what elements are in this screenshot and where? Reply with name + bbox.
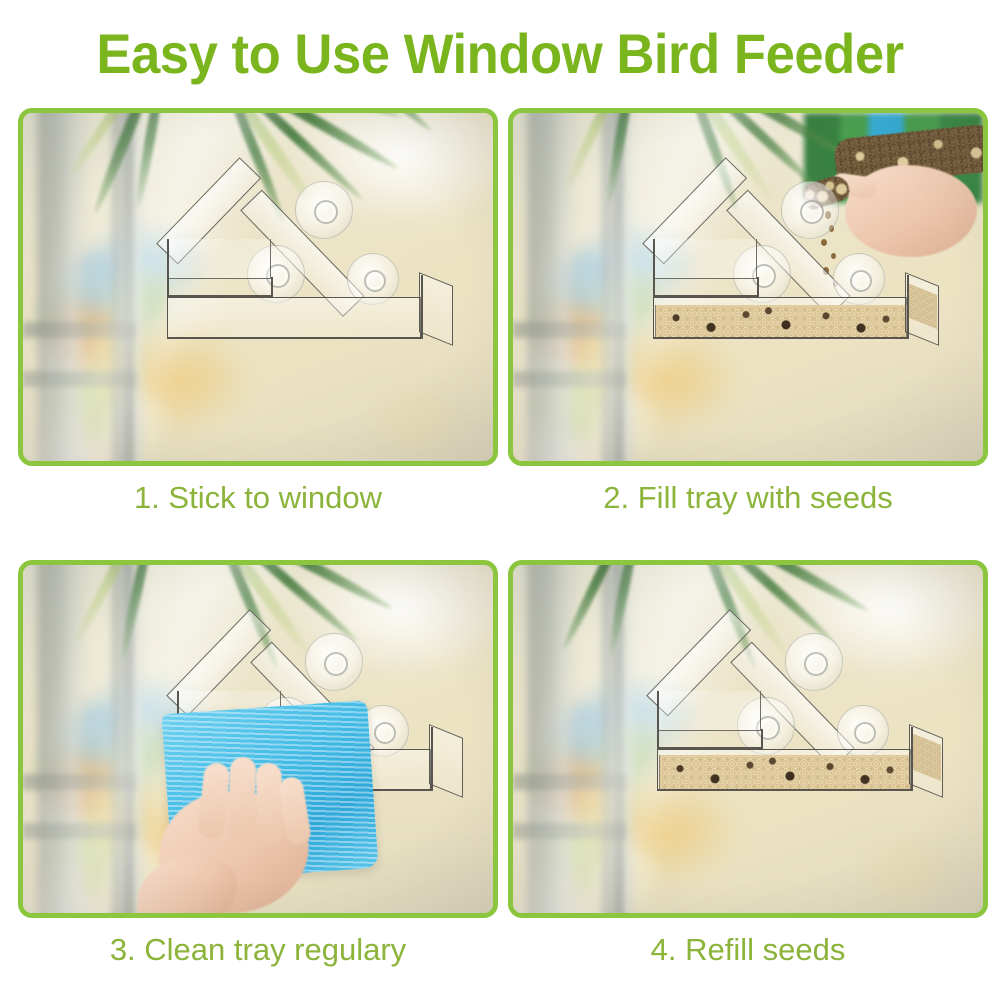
feeder-edge: [653, 239, 655, 297]
feeder-edge: [431, 727, 433, 791]
step-card-3[interactable]: 3. Clean tray regulary: [18, 560, 498, 970]
page-title: Easy to Use Window Bird Feeder: [30, 24, 970, 84]
step-caption-4: 4. Refill seeds: [508, 930, 988, 970]
feeder-tray-front: [167, 297, 421, 339]
suction-cup: [295, 181, 353, 239]
feeder-back-panel: [653, 239, 757, 279]
feeder-edge: [907, 275, 909, 339]
step-caption-3: 3. Clean tray regulary: [18, 930, 498, 970]
bird-feeder-2: [649, 171, 949, 411]
step-image-2: [508, 108, 988, 466]
feeder-back-panel: [167, 239, 271, 279]
feeder-back-panel: [657, 691, 761, 731]
step-card-2[interactable]: 2. Fill tray with seeds: [508, 108, 988, 518]
feeder-tray-side: [429, 724, 463, 798]
feeder-edge: [657, 691, 659, 749]
bird-feeder-1: [163, 171, 463, 411]
birdseed-fill: [659, 755, 911, 789]
window-scene-2: [513, 113, 983, 461]
step-card-4[interactable]: 4. Refill seeds: [508, 560, 988, 970]
step-image-1: [18, 108, 498, 466]
feeder-edge: [653, 337, 909, 339]
feeder-edge: [167, 337, 423, 339]
step-image-3: [18, 560, 498, 918]
suction-cup: [305, 633, 363, 691]
steps-grid: 1. Stick to window: [0, 108, 1000, 988]
step-image-4: [508, 560, 988, 918]
infographic-page: Easy to Use Window Bird Feeder: [0, 0, 1000, 1000]
feeder-edge: [757, 277, 759, 297]
window-scene-1: [23, 113, 493, 461]
finger: [255, 762, 285, 843]
window-scene-4: [513, 565, 983, 913]
birdseed-fill: [655, 305, 907, 337]
feeder-edge: [657, 789, 913, 791]
feeder-edge: [421, 275, 423, 339]
feeder-edge: [167, 239, 169, 297]
window-scene-3: [23, 565, 493, 913]
suction-cup: [781, 181, 839, 239]
feeder-edge: [911, 727, 913, 791]
bird-feeder-4: [653, 623, 953, 863]
feeder-edge: [761, 729, 763, 749]
feeder-edge: [271, 277, 273, 297]
step-caption-2: 2. Fill tray with seeds: [508, 478, 988, 518]
step-card-1[interactable]: 1. Stick to window: [18, 108, 498, 518]
step-caption-1: 1. Stick to window: [18, 478, 498, 518]
suction-cup: [785, 633, 843, 691]
feeder-tray-side: [419, 272, 453, 346]
finger: [228, 757, 257, 842]
